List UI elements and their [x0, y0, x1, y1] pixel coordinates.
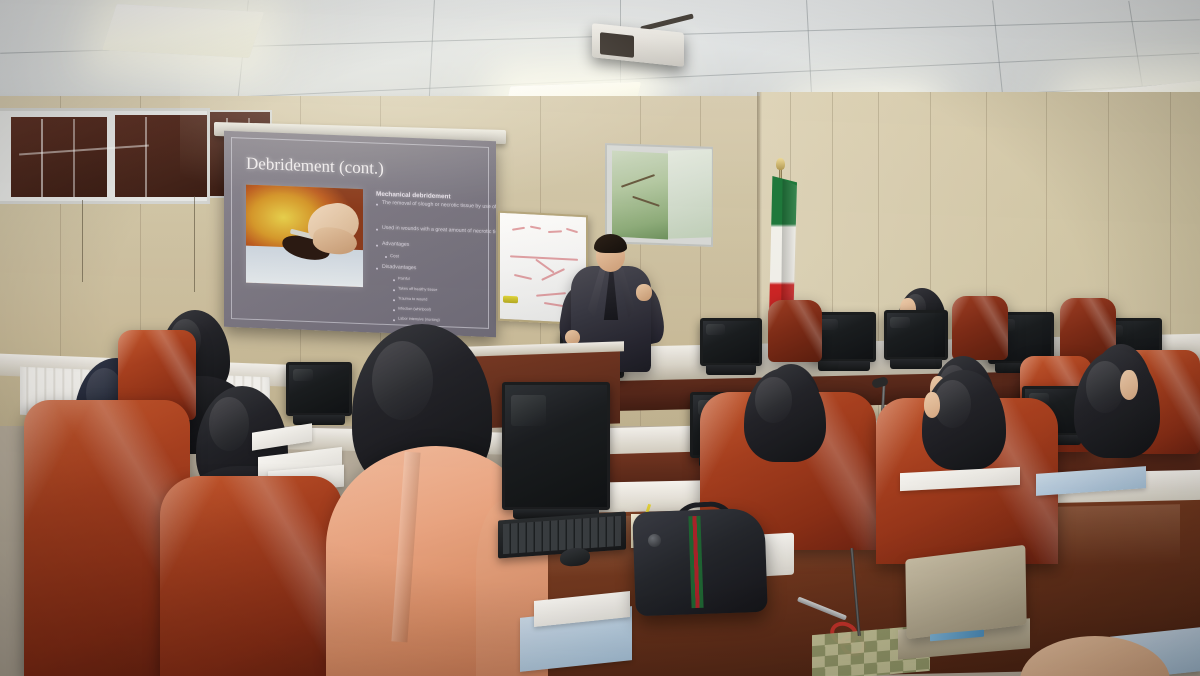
projection-screen: Debridement (cont.) Mechanical debrideme…: [224, 131, 496, 337]
chair-foreground-left-2[interactable]: [160, 476, 342, 676]
slide-bullet-3: Advantages: [382, 241, 409, 248]
window-blind-cord-1[interactable]: [82, 200, 83, 282]
handbag-buckle-icon: [648, 534, 661, 547]
ceiling-light-panel-1: [102, 4, 264, 58]
laptop-lid[interactable]: [905, 545, 1026, 640]
slide-image: [246, 185, 363, 287]
monitor-back-1: [700, 318, 762, 366]
student-far-right-2-face: [1120, 370, 1138, 400]
open-window-sash: [668, 149, 712, 239]
monitor-front-main: [502, 382, 610, 510]
left-window-panel: [0, 108, 210, 204]
monitor-left-1: [286, 362, 352, 416]
whiteboard-marker[interactable]: [503, 296, 518, 304]
projector-lens-icon: [600, 32, 634, 58]
slide-bullet-6: Painful: [398, 276, 410, 280]
chair-back-2[interactable]: [952, 296, 1008, 360]
classroom-photo: Debridement (cont.) Mechanical debrideme…: [0, 0, 1200, 676]
open-window-glass: [612, 151, 668, 240]
slide-bullet-4: Cost: [390, 253, 399, 258]
presenter-right-hand: [636, 284, 652, 301]
chair-back-1[interactable]: [768, 300, 822, 362]
student-front-right-2-face: [924, 392, 940, 418]
monitor-back-3: [884, 310, 948, 360]
window-blind-cord-2[interactable]: [194, 196, 195, 292]
window-sticker-label: [6, 116, 28, 194]
keyboard-keys: [503, 516, 621, 554]
slide-bullet-5: Disadvantages: [382, 264, 416, 271]
flag-finial: [776, 158, 785, 170]
